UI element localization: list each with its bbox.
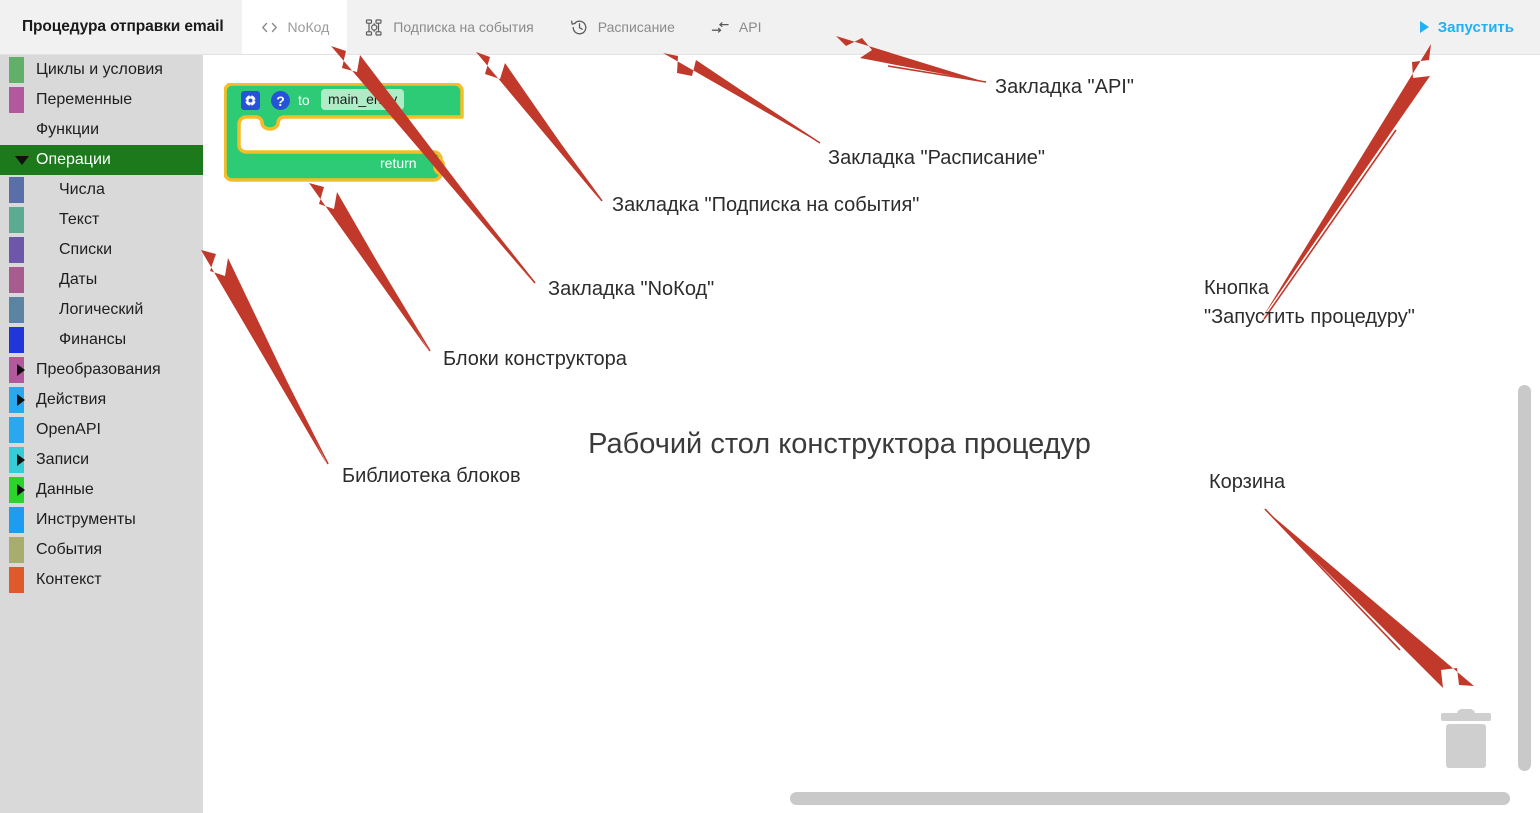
block-to-label: to — [298, 91, 310, 110]
sidebar-item-11[interactable]: Действия — [0, 385, 203, 415]
sidebar-item-8[interactable]: Логический — [0, 295, 203, 325]
api-arrows-icon — [711, 18, 730, 37]
procedure-name-field[interactable]: main_entry — [321, 89, 404, 110]
page-title: Процедура отправки email — [0, 0, 242, 54]
category-color-swatch — [9, 417, 24, 443]
tab-api[interactable]: API — [693, 0, 780, 54]
run-procedure-button[interactable]: Запустить — [1404, 0, 1540, 54]
tab-label: Расписание — [598, 19, 675, 35]
category-color-swatch — [9, 117, 24, 143]
sidebar-item-6[interactable]: Списки — [0, 235, 203, 265]
sidebar-item-2[interactable]: Функции — [0, 115, 203, 145]
help-icon[interactable]: ? — [271, 91, 290, 110]
sidebar-item-7[interactable]: Даты — [0, 265, 203, 295]
gear-icon[interactable] — [241, 91, 260, 110]
sidebar-item-3[interactable]: Операции — [0, 145, 203, 175]
top-header-bar: Процедура отправки email NoКод Подписка … — [0, 0, 1540, 55]
sidebar-item-13[interactable]: Записи — [0, 445, 203, 475]
tab-nocode[interactable]: NoКод — [242, 0, 348, 54]
trash-icon[interactable] — [1437, 705, 1495, 773]
sidebar-item-17[interactable]: Контекст — [0, 565, 203, 595]
category-color-swatch — [9, 237, 24, 263]
sidebar-item-12[interactable]: OpenAPI — [0, 415, 203, 445]
sidebar-item-9[interactable]: Финансы — [0, 325, 203, 355]
tab-schedule[interactable]: Расписание — [552, 0, 693, 54]
sidebar-item-5[interactable]: Текст — [0, 205, 203, 235]
play-icon — [1420, 21, 1429, 33]
category-color-swatch — [9, 57, 24, 83]
category-color-swatch — [9, 207, 24, 233]
category-color-swatch — [9, 297, 24, 323]
workflow-nodes-icon — [365, 18, 384, 37]
sidebar-item-4[interactable]: Числа — [0, 175, 203, 205]
chevron-right-icon[interactable] — [17, 394, 25, 406]
vertical-scrollbar[interactable] — [1518, 385, 1531, 771]
category-color-swatch — [9, 267, 24, 293]
sidebar-item-16[interactable]: События — [0, 535, 203, 565]
sidebar-item-10[interactable]: Преобразования — [0, 355, 203, 385]
chevron-right-icon[interactable] — [17, 484, 25, 496]
procedure-definition-block[interactable]: ? to main_entry return — [224, 83, 464, 188]
category-color-swatch — [9, 567, 24, 593]
sidebar-item-1[interactable]: Переменные — [0, 85, 203, 115]
chevron-right-icon[interactable] — [17, 454, 25, 466]
sidebar-item-0[interactable]: Циклы и условия — [0, 55, 203, 85]
sidebar-item-15[interactable]: Инструменты — [0, 505, 203, 535]
category-color-swatch — [9, 177, 24, 203]
tab-label: NoКод — [288, 19, 330, 35]
procedure-builder-app: Процедура отправки email NoКод Подписка … — [0, 0, 1540, 813]
block-return-label: return — [380, 155, 417, 171]
chevron-right-icon[interactable] — [17, 364, 25, 376]
workspace-canvas[interactable]: Рабочий стол конструктора процедур ? to … — [203, 55, 1540, 813]
clock-history-icon — [570, 18, 589, 37]
code-brackets-icon — [260, 18, 279, 37]
category-color-swatch — [9, 87, 24, 113]
chevron-down-icon[interactable] — [15, 156, 29, 165]
category-color-swatch — [9, 537, 24, 563]
tab-label: API — [739, 19, 762, 35]
header-spacer — [779, 0, 1403, 54]
block-library-sidebar[interactable]: Циклы и условияПеременныеФункцииОперации… — [0, 55, 203, 813]
tab-event-subscription[interactable]: Подписка на события — [347, 0, 551, 54]
sidebar-item-14[interactable]: Данные — [0, 475, 203, 505]
category-color-swatch — [9, 507, 24, 533]
horizontal-scrollbar[interactable] — [790, 792, 1510, 805]
run-button-label: Запустить — [1438, 19, 1514, 36]
sidebar-item-label: Циклы и условия — [0, 61, 163, 79]
tab-label: Подписка на события — [393, 19, 533, 35]
category-color-swatch — [9, 327, 24, 353]
